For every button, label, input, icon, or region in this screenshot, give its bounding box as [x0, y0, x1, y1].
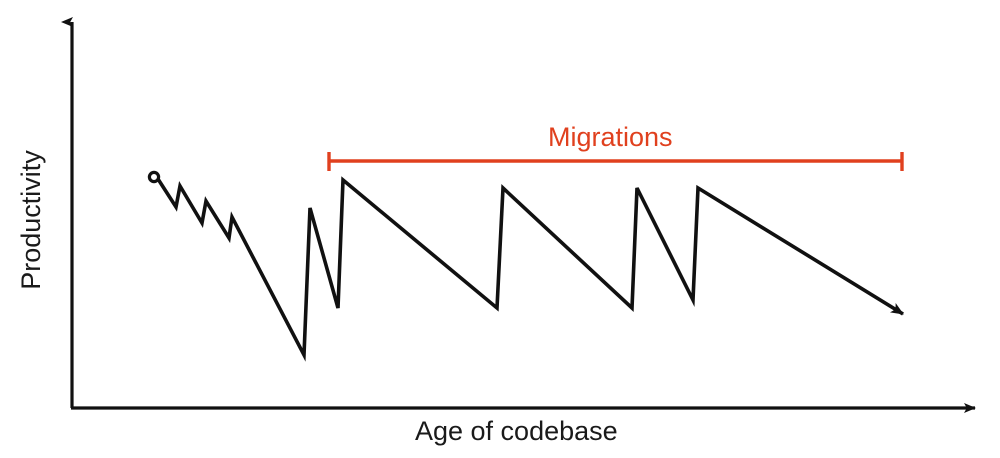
curve-start-marker — [149, 172, 158, 181]
migrations-annotation-label: Migrations — [548, 122, 673, 153]
productivity-curve-group — [149, 172, 903, 355]
productivity-curve — [158, 179, 903, 355]
chart-figure: Productivity Age of codebase Migrations — [0, 0, 1000, 458]
migrations-bracket — [328, 152, 903, 171]
productivity-vs-codebase-age-chart — [0, 0, 1000, 458]
y-axis-label: Productivity — [16, 70, 47, 370]
x-axis-label: Age of codebase — [415, 416, 618, 447]
